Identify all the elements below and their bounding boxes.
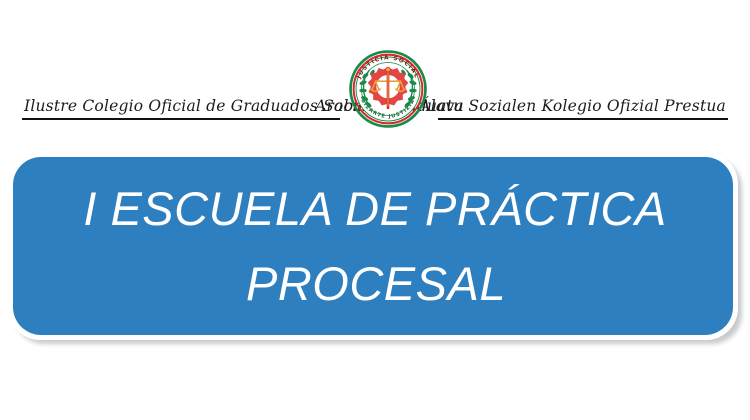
- institutional-header: Ilustre Colegio Oficial de Graduados Soc…: [0, 44, 750, 130]
- header-rule-right: [438, 118, 728, 120]
- coat-of-arms-emblem-icon: JUSTICIA SOCIAL BIZARTE JUSTIZIA: [349, 50, 427, 128]
- banner-title-line-2: PROCESAL: [246, 259, 506, 308]
- banner-title-line-1: I ESCUELA DE PRÁCTICA: [83, 184, 666, 233]
- poster-canvas: Ilustre Colegio Oficial de Graduados Soc…: [0, 0, 750, 420]
- banner-body: I ESCUELA DE PRÁCTICA PROCESAL: [13, 157, 733, 335]
- header-rule-left: [22, 118, 340, 120]
- title-banner: I ESCUELA DE PRÁCTICA PROCESAL: [8, 152, 742, 344]
